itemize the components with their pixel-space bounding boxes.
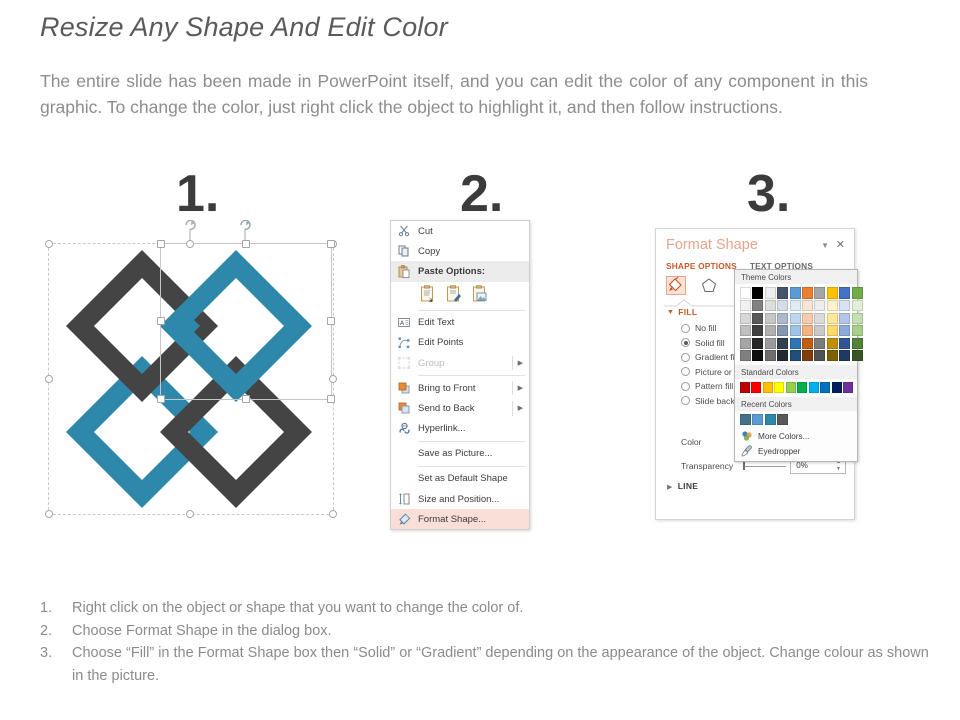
rotation-handle-outer[interactable] [182,220,196,242]
color-swatch[interactable] [777,414,788,425]
color-swatch[interactable] [839,325,850,336]
scissors-icon [397,224,411,238]
color-swatch[interactable] [852,350,863,361]
color-swatch[interactable] [740,300,751,311]
chevron-right-icon: ▶ [518,384,523,392]
color-swatch[interactable] [814,338,825,349]
color-swatch[interactable] [814,300,825,311]
menu-item-hyperlink[interactable]: Hyperlink... [391,419,529,439]
color-swatch[interactable] [777,287,788,299]
resize-handle-w[interactable] [45,375,53,383]
inner-handle-nw[interactable] [157,240,165,248]
color-swatch[interactable] [752,287,763,299]
line-section-label: LINE [678,481,699,491]
paste-keep-source-icon[interactable]: a [420,285,437,303]
color-swatch[interactable] [814,287,825,299]
color-swatch[interactable] [777,300,788,311]
edit-text-icon: A [397,316,411,330]
step-number-3: 3. [747,168,790,220]
color-swatch[interactable] [765,313,776,324]
color-swatch[interactable] [765,350,776,361]
color-swatch[interactable] [809,382,819,393]
color-swatch[interactable] [790,300,801,311]
color-swatch[interactable] [765,414,776,425]
menu-item-label: Size and Position... [418,494,499,505]
eyedropper-item[interactable]: Eyedropper [735,444,857,459]
resize-handle-s[interactable] [186,510,194,518]
submenu-divider [512,356,513,370]
menu-item-label: Edit Text [418,317,454,328]
theme-color-column[interactable] [839,287,850,361]
bring-front-icon [397,381,411,395]
send-back-icon [397,401,411,415]
color-swatch[interactable] [827,325,838,336]
theme-color-column[interactable] [827,287,838,361]
color-swatch[interactable] [740,325,751,336]
menu-item-save-as-picture[interactable]: Save as Picture... [391,444,529,464]
fill-bucket-icon[interactable] [666,276,686,295]
triangle-down-icon: ▼ [667,309,674,316]
color-swatch[interactable] [752,300,763,311]
context-menu[interactable]: Cut Copy Paste Options: [390,220,530,530]
color-swatch[interactable] [740,313,751,324]
color-swatch[interactable] [814,350,825,361]
inner-handle-e[interactable] [327,317,335,325]
chevron-right-icon: ▶ [518,359,523,367]
paste-picture-icon[interactable] [472,285,489,303]
color-swatch[interactable] [802,325,813,336]
recent-colors-label: Recent Colors [735,397,857,411]
inner-selection-box[interactable] [160,243,332,400]
slider-track [745,466,786,467]
color-swatch[interactable] [774,382,784,393]
shape-illustration-panel[interactable] [40,228,340,528]
color-swatch[interactable] [740,414,751,425]
color-dropdown-menu[interactable]: Theme Colors Standard Colors Recent Colo… [734,269,858,462]
instruction-list: 1. Right click on the object or shape th… [40,597,940,687]
slider-thumb[interactable] [743,462,745,470]
transparency-label: Transparency [681,461,741,471]
svg-text:a: a [429,297,433,303]
menu-item-label: Save as Picture... [418,448,492,459]
theme-color-column[interactable] [752,287,763,361]
group-icon [397,356,411,370]
color-swatch[interactable] [839,300,850,311]
theme-color-column[interactable] [790,287,801,361]
color-swatch[interactable] [752,325,763,336]
color-swatch[interactable] [814,313,825,324]
color-swatch[interactable] [814,325,825,336]
line-section-header[interactable]: ▶LINE [667,481,698,491]
color-swatch[interactable] [852,287,863,299]
format-shape-pane[interactable]: Format Shape ▼ ✕ SHAPE OPTIONS TEXT OPTI… [655,228,855,520]
color-swatch[interactable] [740,350,751,361]
menu-item-edit-text[interactable]: A Edit Text [391,313,529,333]
color-swatch[interactable] [790,287,801,299]
color-swatch[interactable] [786,382,796,393]
color-swatch[interactable] [765,338,776,349]
menu-item-set-as-default-shape[interactable]: Set as Default Shape [391,469,529,489]
inner-handle-sw[interactable] [157,395,165,403]
format-shape-title: Format Shape [666,237,758,253]
more-colors-label: More Colors... [758,432,809,441]
resize-handle-e[interactable] [329,375,337,383]
rotation-handle-inner[interactable] [237,220,251,242]
color-swatch[interactable] [765,287,776,299]
menu-item-label: Edit Points [418,337,463,348]
format-shape-icon [397,512,411,526]
eyedropper-icon [741,445,753,457]
menu-item-label: Group [418,358,444,369]
copy-icon [397,244,411,258]
color-swatch[interactable] [852,338,863,349]
paste-keep-format-icon[interactable] [446,285,463,303]
menu-item-label: Set as Default Shape [418,473,508,484]
resize-handle-nw[interactable] [45,240,53,248]
color-swatch[interactable] [751,382,761,393]
resize-handle-sw[interactable] [45,510,53,518]
theme-color-column[interactable] [802,287,813,361]
fill-section-header[interactable]: ▼FILL [667,307,697,317]
color-swatch[interactable] [765,325,776,336]
paste-icon [397,264,411,278]
color-swatch[interactable] [740,338,751,349]
submenu-divider [512,381,513,395]
effects-pentagon-icon[interactable] [699,276,719,295]
theme-color-column[interactable] [740,287,751,361]
color-swatch[interactable] [827,350,838,361]
instruction-item: 2. Choose Format Shape in the dialog box… [40,620,940,643]
step-number-2: 2. [460,168,503,220]
close-icon[interactable]: ✕ [836,238,845,251]
color-swatch[interactable] [790,313,801,324]
menu-item-bring-to-front[interactable]: Bring to Front ▶ [391,378,529,398]
eyedropper-label: Eyedropper [758,447,800,456]
inner-handle-s[interactable] [242,395,250,403]
page-title: Resize Any Shape And Edit Color [40,12,448,43]
menu-separator [418,310,525,311]
color-swatch[interactable] [790,338,801,349]
color-swatch[interactable] [827,287,838,299]
intro-paragraph: The entire slide has been made in PowerP… [40,68,868,120]
menu-item-copy[interactable]: Copy [391,241,529,261]
color-swatch[interactable] [843,382,853,393]
recent-colors-row[interactable] [735,411,857,429]
menu-item-send-to-back[interactable]: Send to Back ▶ [391,398,529,418]
menu-item-paste-options[interactable]: Paste Options: [391,261,529,281]
color-swatch[interactable] [763,382,773,393]
color-swatch[interactable] [752,313,763,324]
menu-item-label: Format Shape... [418,514,486,525]
color-swatch[interactable] [852,325,863,336]
color-swatch[interactable] [852,300,863,311]
color-swatch[interactable] [802,287,813,299]
paste-options-row[interactable]: a [391,282,529,308]
color-swatch[interactable] [777,313,788,324]
color-swatch[interactable] [827,338,838,349]
menu-item-label: Paste Options: [418,266,485,277]
edit-points-icon [397,336,411,350]
slide-canvas: Resize Any Shape And Edit Color The enti… [0,0,960,720]
menu-item-label: Bring to Front [418,383,476,394]
menu-separator [418,375,525,376]
color-swatch[interactable] [852,313,863,324]
menu-item-cut[interactable]: Cut [391,221,529,241]
color-swatch[interactable] [777,338,788,349]
color-swatch[interactable] [839,350,850,361]
standard-colors-label: Standard Colors [735,365,857,379]
color-swatch[interactable] [752,338,763,349]
menu-item-label: Cut [418,226,433,237]
instruction-text: Choose Format Shape in the dialog box. [72,620,940,643]
radio-icon [681,367,690,376]
color-swatch[interactable] [802,350,813,361]
color-swatch[interactable] [790,325,801,336]
radio-icon [681,396,690,405]
more-colors-item[interactable]: More Colors... [735,429,857,444]
radio-icon [681,353,690,362]
tab-shape-options[interactable]: SHAPE OPTIONS [666,261,737,271]
color-swatch[interactable] [740,382,750,393]
color-swatch[interactable] [827,300,838,311]
submenu-divider [512,401,513,415]
hyperlink-icon [397,422,411,436]
radio-icon-selected [681,338,690,347]
radio-label: Solid fill [695,338,725,348]
instruction-text: Right click on the object or shape that … [72,597,940,620]
size-position-icon [397,492,411,506]
color-swatch[interactable] [752,414,763,425]
chevron-down-icon[interactable]: ▼ [821,241,829,250]
theme-color-column[interactable] [777,287,788,361]
menu-item-label: Send to Back [418,403,475,414]
radio-label: No fill [695,323,717,333]
color-swatch[interactable] [802,338,813,349]
menu-item-label: Copy [418,246,440,257]
color-swatch[interactable] [839,287,850,299]
instruction-item: 1. Right click on the object or shape th… [40,597,940,620]
color-swatch[interactable] [832,382,842,393]
menu-item-format-shape[interactable]: Format Shape... [391,509,529,529]
instruction-number: 1. [40,597,72,620]
color-swatch[interactable] [827,313,838,324]
menu-item-label: Hyperlink... [418,423,466,434]
radio-label: Gradient fill [695,352,738,362]
color-swatch[interactable] [752,350,763,361]
theme-color-column[interactable] [814,287,825,361]
color-swatch[interactable] [839,313,850,324]
more-colors-icon [741,430,753,442]
color-swatch[interactable] [777,350,788,361]
color-swatch[interactable] [797,382,807,393]
radio-icon [681,324,690,333]
color-swatch[interactable] [765,300,776,311]
instruction-number: 2. [40,620,72,643]
chevron-right-icon: ▶ [518,404,523,412]
standard-colors-row[interactable] [735,379,857,397]
color-swatch[interactable] [777,325,788,336]
transparency-slider[interactable] [741,461,786,471]
menu-separator [418,466,525,467]
instruction-item: 3. Choose “Fill” in the Format Shape box… [40,642,940,687]
menu-separator [418,441,525,442]
menu-item-group: Group ▶ [391,353,529,373]
transparency-value: 0% [796,461,808,470]
triangle-right-icon: ▶ [667,483,673,491]
inner-handle-w[interactable] [157,317,165,325]
radio-icon [681,382,690,391]
color-swatch[interactable] [839,338,850,349]
resize-handle-se[interactable] [329,510,337,518]
menu-item-edit-points[interactable]: Edit Points [391,333,529,353]
menu-item-size-and-position[interactable]: Size and Position... [391,489,529,509]
inner-handle-ne[interactable] [327,240,335,248]
color-swatch[interactable] [802,313,813,324]
theme-color-column[interactable] [852,287,863,361]
color-swatch[interactable] [740,287,751,299]
instruction-text: Choose “Fill” in the Format Shape box th… [72,642,940,687]
color-swatch[interactable] [790,350,801,361]
theme-colors-grid[interactable] [735,284,857,365]
instruction-number: 3. [40,642,72,687]
fill-section-label: FILL [678,307,697,317]
radio-label: Pattern fill [695,381,733,391]
color-swatch[interactable] [802,300,813,311]
inner-handle-se[interactable] [327,395,335,403]
theme-colors-label: Theme Colors [735,270,857,284]
step-number-1: 1. [176,168,219,220]
theme-color-column[interactable] [765,287,776,361]
color-swatch[interactable] [820,382,830,393]
